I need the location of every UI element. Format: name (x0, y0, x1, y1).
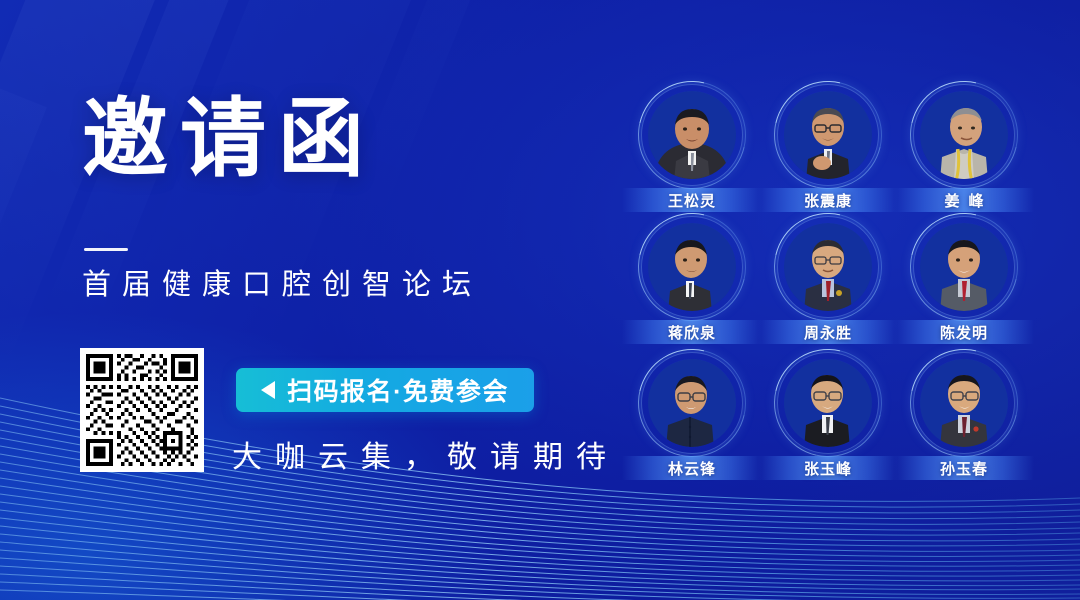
portrait-ring (641, 352, 743, 454)
event-tagline: 大咖云集，敬请期待 (232, 432, 619, 476)
invitation-poster: 邀请函 首届健康口腔创智论坛 (0, 0, 1080, 600)
portrait-ring (777, 84, 879, 186)
portrait-ring (777, 216, 879, 318)
speaker-name: 陈发明 (940, 322, 988, 343)
avatar (920, 359, 1008, 447)
speaker-nameplate: 陈发明 (894, 320, 1034, 344)
speaker-name: 周永胜 (804, 322, 852, 343)
speaker-row: 蒋欣泉 (600, 216, 1080, 346)
speaker-name: 林云锋 (668, 458, 716, 479)
avatar (648, 91, 736, 179)
scan-register-button[interactable]: 扫码报名·免费参会 (236, 368, 534, 412)
avatar (784, 223, 872, 311)
speaker-row: 王松灵 (600, 84, 1080, 214)
triangle-left-icon (261, 381, 275, 399)
portrait-ring (913, 84, 1015, 186)
speaker-grid: 王松灵 (600, 80, 1080, 500)
left-content-panel: 邀请函 首届健康口腔创智论坛 (0, 0, 600, 600)
portrait-ring (641, 84, 743, 186)
speaker-name: 姜峰 (935, 190, 992, 211)
speaker-card[interactable]: 周永胜 (758, 216, 898, 346)
speaker-nameplate: 张震康 (758, 188, 898, 212)
event-subtitle: 首届健康口腔创智论坛 (82, 268, 482, 303)
speaker-card[interactable]: 孙玉春 (894, 352, 1034, 482)
avatar (784, 359, 872, 447)
scan-register-label: 扫码报名·免费参会 (287, 372, 509, 408)
qr-code-icon[interactable] (80, 348, 204, 472)
speaker-nameplate: 林云锋 (622, 456, 762, 480)
speaker-card[interactable]: 王松灵 (622, 84, 762, 214)
speaker-name: 孙玉春 (940, 458, 988, 479)
speaker-name: 张玉峰 (804, 458, 852, 479)
speaker-nameplate: 姜峰 (894, 188, 1034, 212)
speaker-card[interactable]: 张玉峰 (758, 352, 898, 482)
speaker-card[interactable]: 林云锋 (622, 352, 762, 482)
avatar (648, 359, 736, 447)
avatar (920, 91, 1008, 179)
avatar (648, 223, 736, 311)
speaker-nameplate: 张玉峰 (758, 456, 898, 480)
speaker-card[interactable]: 姜峰 (894, 84, 1034, 214)
speaker-card[interactable]: 张震康 (758, 84, 898, 214)
speaker-nameplate: 周永胜 (758, 320, 898, 344)
speaker-card[interactable]: 蒋欣泉 (622, 216, 762, 346)
page-title: 邀请函 (82, 96, 376, 182)
speaker-card[interactable]: 陈发明 (894, 216, 1034, 346)
avatar (784, 91, 872, 179)
portrait-ring (913, 352, 1015, 454)
speaker-name: 张震康 (804, 190, 852, 211)
avatar (920, 223, 1008, 311)
speaker-nameplate: 蒋欣泉 (622, 320, 762, 344)
portrait-ring (777, 352, 879, 454)
speaker-nameplate: 王松灵 (622, 188, 762, 212)
speaker-name: 蒋欣泉 (668, 322, 716, 343)
speaker-row: 林云锋 (600, 352, 1080, 482)
portrait-ring (641, 216, 743, 318)
speaker-name: 王松灵 (668, 190, 716, 211)
title-divider (84, 248, 128, 251)
portrait-ring (913, 216, 1015, 318)
speaker-nameplate: 孙玉春 (894, 456, 1034, 480)
